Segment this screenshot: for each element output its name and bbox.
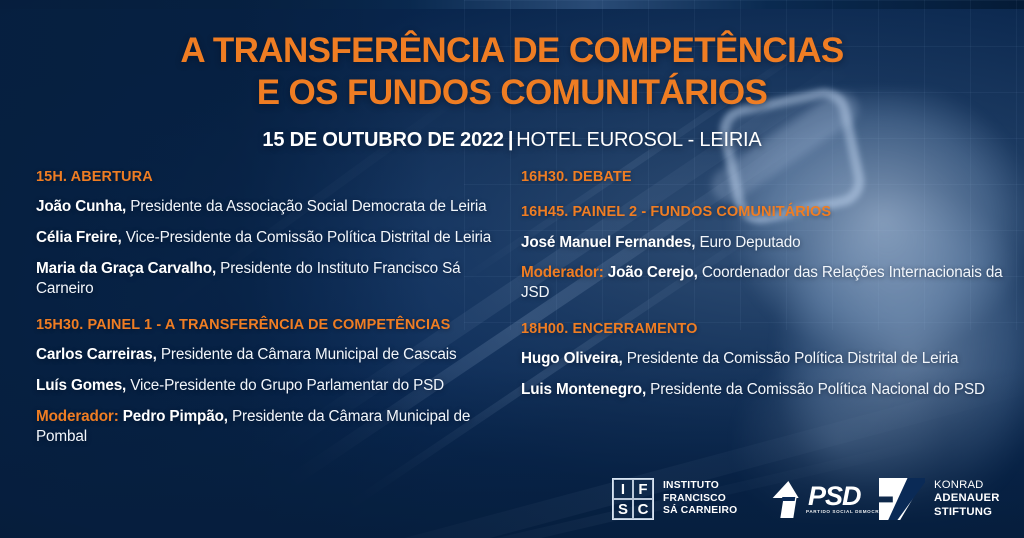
ifsc-wordmark: INSTITUTO FRANCISCO SÁ CARNEIRO bbox=[663, 480, 737, 517]
speaker-name: Hugo Oliveira, bbox=[521, 350, 623, 367]
section-heading: 18H00. ENCERRAMENTO bbox=[521, 320, 1013, 338]
kas-name-line-2: ADENAUER bbox=[934, 492, 1000, 505]
event-date: 15 DE OUTUBRO DE 2022 bbox=[262, 129, 503, 151]
logo-instituto-francisco-sa-carneiro: I F S C INSTITUTO FRANCISCO SÁ CARNEIRO bbox=[612, 478, 737, 520]
separator: | bbox=[508, 129, 513, 151]
section-heading: 15H. ABERTURA bbox=[36, 168, 506, 186]
ifsc-name-line-2: FRANCISCO bbox=[663, 493, 737, 505]
event-date-venue: 15 DE OUTUBRO DE 2022|HOTEL EUROSOL - LE… bbox=[0, 129, 1024, 152]
kas-emblem-icon bbox=[879, 478, 925, 520]
ifsc-cell-c: C bbox=[633, 499, 653, 519]
event-venue: HOTEL EUROSOL - LEIRIA bbox=[516, 129, 761, 151]
moderator-label: Moderador: bbox=[36, 408, 123, 425]
speaker-name: Carlos Carreiras, bbox=[36, 346, 157, 363]
program-entry: Luis Montenegro, Presidente da Comissão … bbox=[521, 380, 1013, 400]
ifsc-cell-f: F bbox=[633, 479, 653, 499]
program-entry: Moderador: Pedro Pimpão, Presidente da C… bbox=[36, 407, 506, 447]
ifsc-cell-i: I bbox=[613, 479, 633, 499]
speaker-name: Luis Montenegro, bbox=[521, 381, 646, 398]
program-column-right: 16H30. DEBATE16H45. PAINEL 2 - FUNDOS CO… bbox=[521, 168, 1013, 400]
psd-tagline: PARTIDO SOCIAL DEMOCRATA bbox=[806, 509, 890, 514]
program-entry: Célia Freire, Vice-Presidente da Comissã… bbox=[36, 228, 506, 248]
speaker-role: Presidente da Comissão Política Distrita… bbox=[623, 350, 959, 367]
ifsc-name-line-1: INSTITUTO bbox=[663, 480, 737, 492]
speaker-name: João Cerejo, bbox=[608, 264, 698, 281]
psd-arrowhead bbox=[773, 481, 802, 498]
speaker-name: Maria da Graça Carvalho, bbox=[36, 260, 216, 277]
program-column-left: 15H. ABERTURAJoão Cunha, Presidente da A… bbox=[36, 168, 506, 447]
poster-title-line-1: A TRANSFERÊNCIA DE COMPETÊNCIAS bbox=[0, 30, 1024, 72]
program-entry: Carlos Carreiras, Presidente da Câmara M… bbox=[36, 345, 506, 365]
title-block: A TRANSFERÊNCIA DE COMPETÊNCIAS E OS FUN… bbox=[0, 30, 1024, 152]
kas-wordmark: KONRAD ADENAUER STIFTUNG bbox=[934, 479, 1000, 519]
program-entry: Maria da Graça Carvalho, Presidente do I… bbox=[36, 259, 506, 299]
speaker-role: Presidente da Comissão Política Nacional… bbox=[646, 381, 985, 398]
speaker-role: Vice-Presidente da Comissão Política Dis… bbox=[122, 229, 492, 246]
speaker-role: Presidente da Associação Social Democrat… bbox=[126, 198, 486, 215]
speaker-role: Vice-Presidente do Grupo Parlamentar do … bbox=[126, 377, 444, 394]
poster-content: A TRANSFERÊNCIA DE COMPETÊNCIAS E OS FUN… bbox=[0, 0, 1024, 538]
speaker-name: José Manuel Fernandes, bbox=[521, 234, 695, 251]
speaker-name: Célia Freire, bbox=[36, 229, 122, 246]
section-heading: 16H45. PAINEL 2 - FUNDOS COMUNITÁRIOS bbox=[521, 203, 1013, 221]
section-heading: 15H30. PAINEL 1 - A TRANSFERÊNCIA DE COM… bbox=[36, 316, 506, 334]
event-poster: A TRANSFERÊNCIA DE COMPETÊNCIAS E OS FUN… bbox=[0, 0, 1024, 538]
speaker-name: Luís Gomes, bbox=[36, 377, 126, 394]
sponsor-logos: I F S C INSTITUTO FRANCISCO SÁ CARNEIRO bbox=[612, 472, 1012, 528]
psd-letters: PSD bbox=[808, 484, 890, 508]
kas-name-line-3: STIFTUNG bbox=[934, 506, 1000, 519]
program-entry: Hugo Oliveira, Presidente da Comissão Po… bbox=[521, 349, 1013, 369]
program-entry: Moderador: João Cerejo, Coordenador das … bbox=[521, 263, 1013, 303]
logo-psd: PSD PARTIDO SOCIAL DEMOCRATA bbox=[772, 478, 890, 520]
speaker-name: Pedro Pimpão, bbox=[123, 408, 228, 425]
ifsc-name-line-3: SÁ CARNEIRO bbox=[663, 505, 737, 517]
speaker-role: Euro Deputado bbox=[695, 234, 800, 251]
program-entry: Luís Gomes, Vice-Presidente do Grupo Par… bbox=[36, 376, 506, 396]
psd-arrow-notch bbox=[782, 497, 796, 501]
psd-wordmark: PSD PARTIDO SOCIAL DEMOCRATA bbox=[806, 484, 890, 514]
ifsc-cell-s: S bbox=[613, 499, 633, 519]
section-heading: 16H30. DEBATE bbox=[521, 168, 1013, 186]
poster-title-line-2: E OS FUNDOS COMUNITÁRIOS bbox=[0, 72, 1024, 114]
kas-name-line-1: KONRAD bbox=[934, 479, 1000, 492]
program-entry: José Manuel Fernandes, Euro Deputado bbox=[521, 233, 1013, 253]
logo-konrad-adenauer-stiftung: KONRAD ADENAUER STIFTUNG bbox=[879, 478, 1000, 520]
ifsc-monogram-icon: I F S C bbox=[612, 478, 654, 520]
speaker-name: João Cunha, bbox=[36, 198, 126, 215]
speaker-role: Presidente da Câmara Municipal de Cascai… bbox=[157, 346, 457, 363]
psd-arrow-icon bbox=[772, 478, 806, 520]
program-entry: João Cunha, Presidente da Associação Soc… bbox=[36, 197, 506, 217]
moderator-label: Moderador: bbox=[521, 264, 608, 281]
